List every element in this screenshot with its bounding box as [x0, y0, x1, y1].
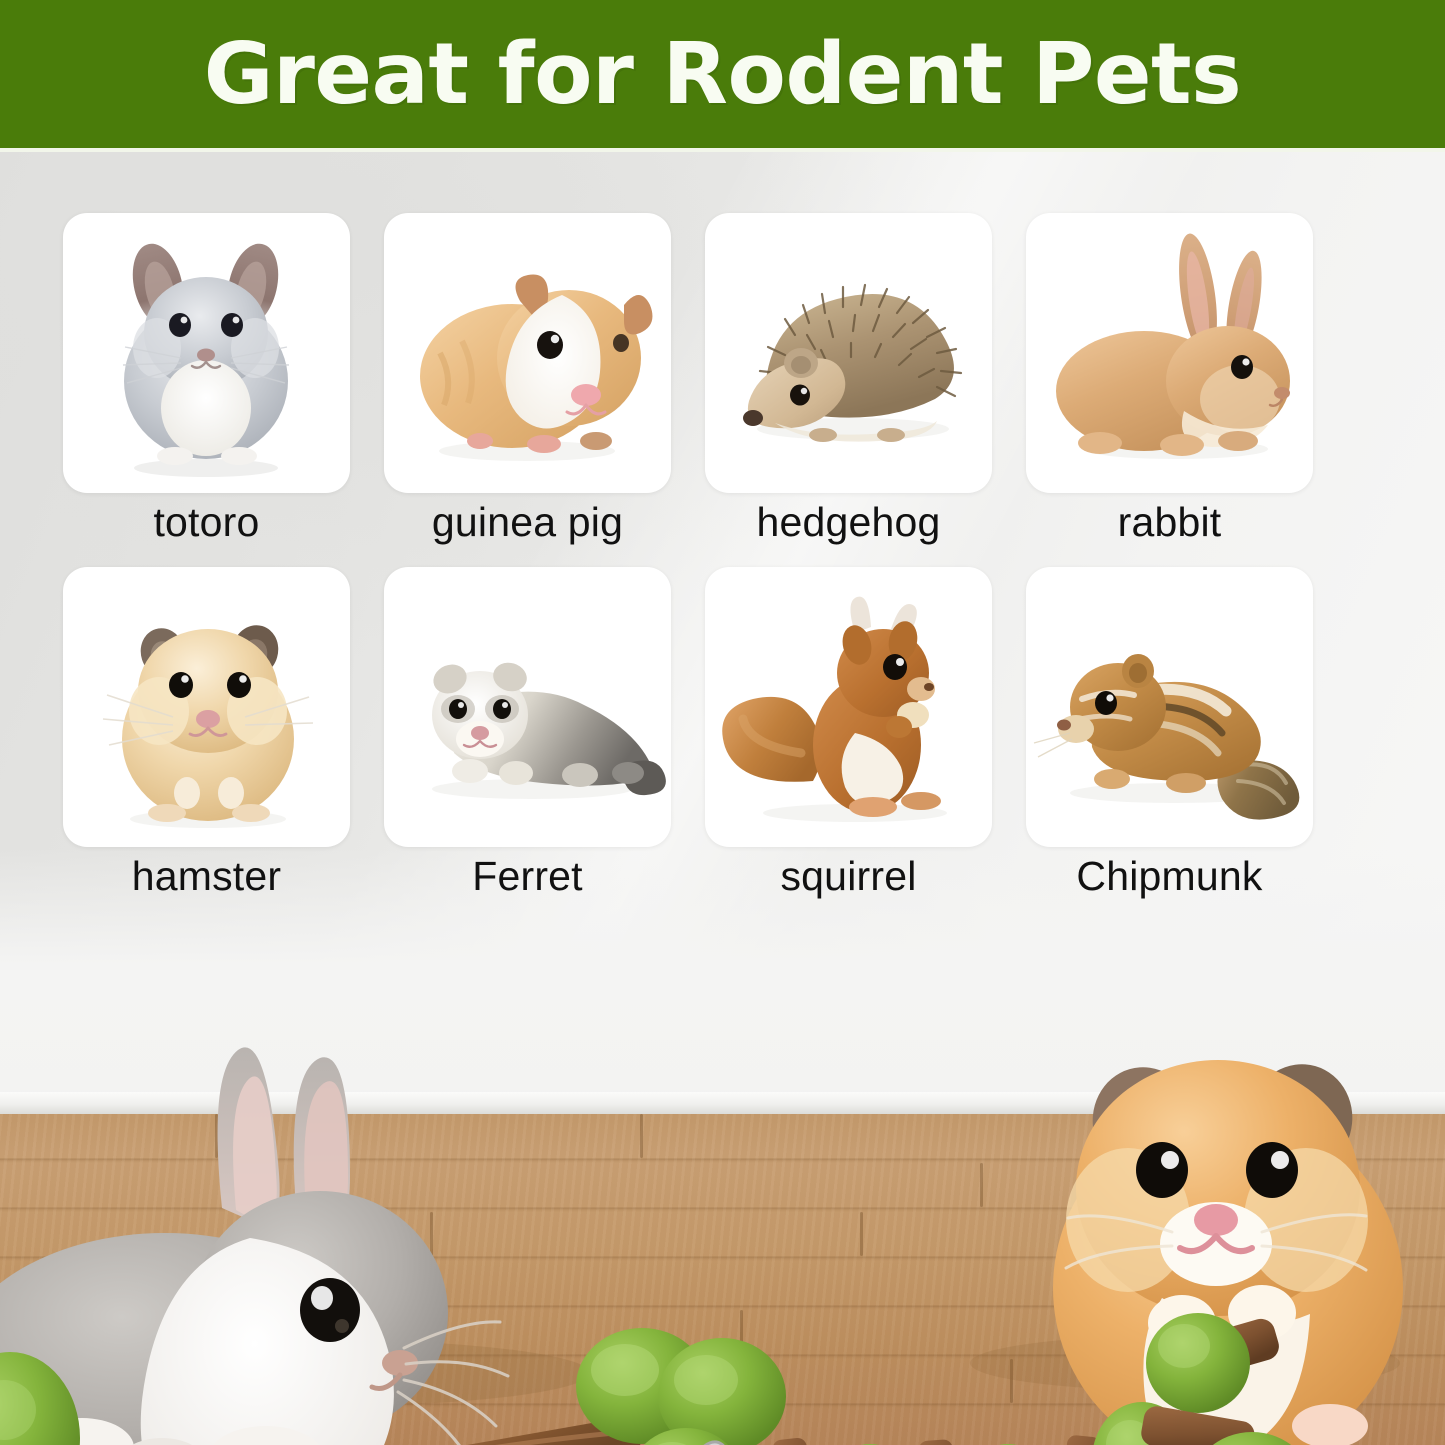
- animal-card-image: [384, 213, 671, 493]
- animal-card[interactable]: guinea pig: [384, 213, 671, 543]
- rabbit-icon: [1026, 213, 1313, 493]
- animal-card[interactable]: hedgehog: [705, 213, 992, 543]
- animal-card-grid: totoro: [63, 213, 1313, 897]
- baseboard-trim: [0, 1092, 1445, 1114]
- animal-card-label: hamster: [63, 856, 350, 897]
- animal-card-image: [63, 567, 350, 847]
- animal-card-label: Chipmunk: [1026, 856, 1313, 897]
- animal-card[interactable]: hamster: [63, 567, 350, 897]
- page-title: Great for Rodent Pets: [204, 25, 1242, 124]
- animal-card[interactable]: squirrel: [705, 567, 992, 897]
- animal-card-label: guinea pig: [384, 502, 671, 543]
- animal-card-image: [705, 567, 992, 847]
- hamster-icon: [63, 567, 350, 847]
- chinchilla-icon: [63, 213, 350, 493]
- guinea-pig-icon: [384, 213, 671, 493]
- animal-card-image: [705, 213, 992, 493]
- animal-card-image: [1026, 213, 1313, 493]
- animal-card-label: Ferret: [384, 856, 671, 897]
- floor-seams: [0, 1114, 1445, 1445]
- animal-card[interactable]: Ferret: [384, 567, 671, 897]
- animal-card-label: squirrel: [705, 856, 992, 897]
- ferret-icon: [384, 567, 671, 847]
- animal-card-label: totoro: [63, 502, 350, 543]
- chipmunk-icon: [1026, 567, 1313, 847]
- animal-card-label: hedgehog: [705, 502, 992, 543]
- hedgehog-icon: [705, 213, 992, 493]
- squirrel-icon: [705, 567, 992, 847]
- banner-underline: [0, 148, 1445, 152]
- animal-card-image: [384, 567, 671, 847]
- room-background: totoro: [0, 148, 1445, 1445]
- animal-card-image: [1026, 567, 1313, 847]
- animal-card-image: [63, 213, 350, 493]
- animal-card-label: rabbit: [1026, 502, 1313, 543]
- header-banner: Great for Rodent Pets: [0, 0, 1445, 148]
- infographic-canvas: Great for Rodent Pets: [0, 0, 1445, 1445]
- wooden-floor: [0, 1114, 1445, 1445]
- animal-card[interactable]: rabbit: [1026, 213, 1313, 543]
- animal-card[interactable]: totoro: [63, 213, 350, 543]
- animal-card[interactable]: Chipmunk: [1026, 567, 1313, 897]
